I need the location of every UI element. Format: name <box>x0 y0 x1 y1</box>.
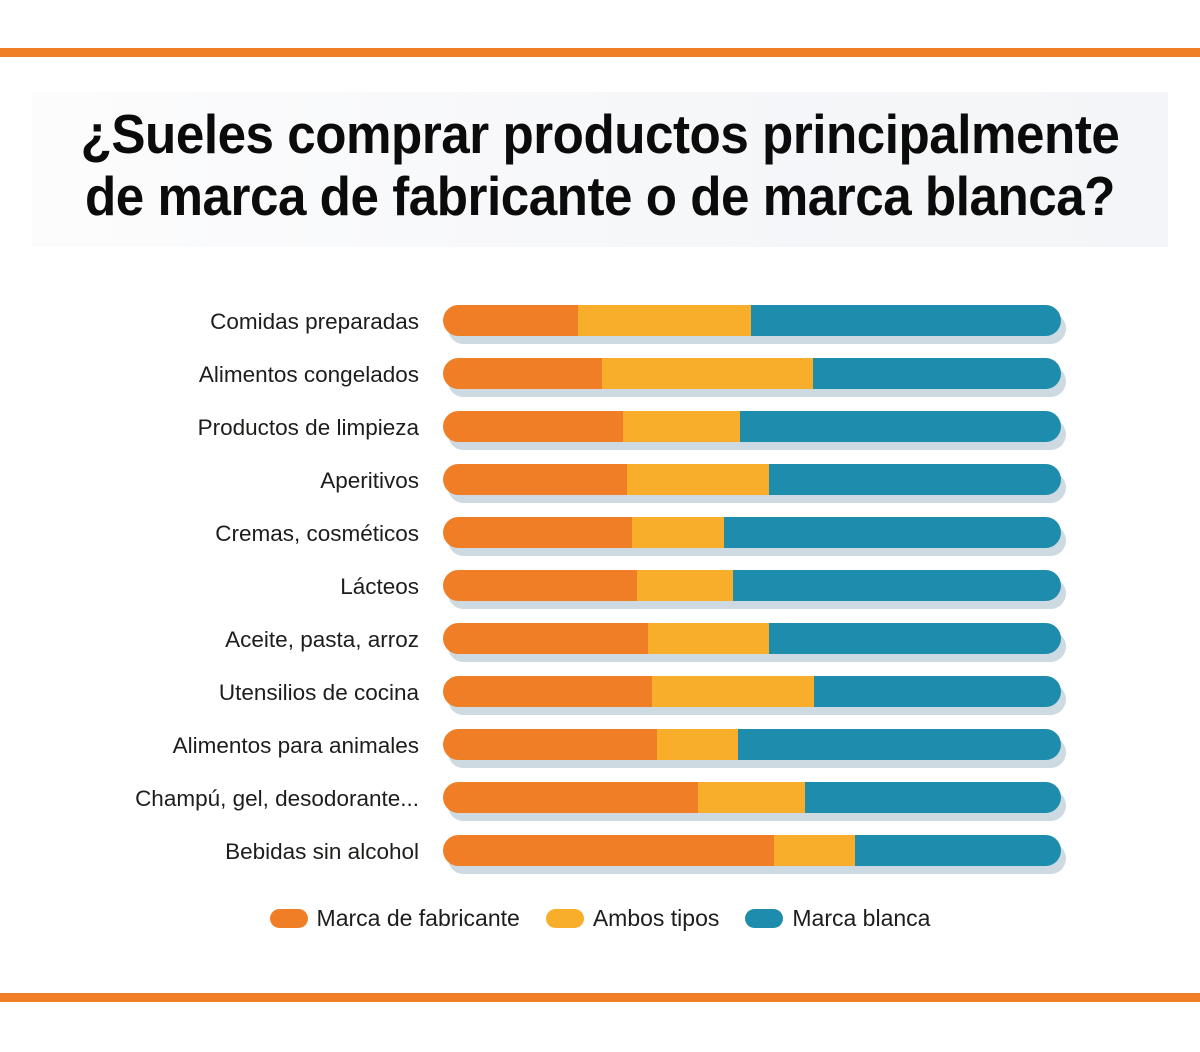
category-label: Cremas, cosméticos <box>0 521 443 547</box>
stacked-bar <box>443 517 1061 548</box>
category-label: Aceite, pasta, arroz <box>0 627 443 653</box>
bar-segment <box>751 305 1061 336</box>
legend-label: Marca de fabricante <box>317 905 520 932</box>
bar-track <box>443 570 1061 604</box>
bar-segment <box>443 464 627 495</box>
category-label: Utensilios de cocina <box>0 680 443 706</box>
chart-row: Comidas preparadas <box>0 295 1200 348</box>
legend-swatch-icon <box>745 909 783 928</box>
bar-track <box>443 782 1061 816</box>
category-label: Alimentos congelados <box>0 362 443 388</box>
legend-label: Ambos tipos <box>593 905 720 932</box>
stacked-bar-chart: Comidas preparadasAlimentos congeladosPr… <box>0 295 1200 878</box>
category-label: Aperitivos <box>0 468 443 494</box>
bar-segment <box>733 570 1061 601</box>
bar-segment <box>724 517 1061 548</box>
bar-track <box>443 305 1061 339</box>
bar-segment <box>443 305 578 336</box>
legend-swatch-icon <box>546 909 584 928</box>
chart-row: Utensilios de cocina <box>0 666 1200 719</box>
bar-track <box>443 464 1061 498</box>
stacked-bar <box>443 782 1061 813</box>
bar-segment <box>632 517 723 548</box>
bar-segment <box>813 358 1061 389</box>
bar-segment <box>443 411 623 442</box>
chart-row: Alimentos congelados <box>0 348 1200 401</box>
bar-track <box>443 835 1061 869</box>
stacked-bar <box>443 623 1061 654</box>
chart-row: Champú, gel, desodorante... <box>0 772 1200 825</box>
bar-segment <box>657 729 739 760</box>
legend-item[interactable]: Marca de fabricante <box>270 905 520 932</box>
stacked-bar <box>443 464 1061 495</box>
bar-segment <box>443 782 698 813</box>
bar-segment <box>774 835 855 866</box>
bar-track <box>443 676 1061 710</box>
bar-segment <box>627 464 769 495</box>
chart-row: Lácteos <box>0 560 1200 613</box>
bar-segment <box>698 782 806 813</box>
bar-segment <box>805 782 1061 813</box>
bar-segment <box>443 358 602 389</box>
bar-segment <box>814 676 1061 707</box>
stacked-bar <box>443 358 1061 389</box>
bar-segment <box>443 570 637 601</box>
bar-segment <box>578 305 751 336</box>
bar-segment <box>443 729 657 760</box>
bar-track <box>443 517 1061 551</box>
bar-segment <box>652 676 815 707</box>
bar-track <box>443 358 1061 392</box>
chart-row: Alimentos para animales <box>0 719 1200 772</box>
chart-row: Bebidas sin alcohol <box>0 825 1200 878</box>
chart-row: Aceite, pasta, arroz <box>0 613 1200 666</box>
stacked-bar <box>443 729 1061 760</box>
bar-segment <box>443 623 648 654</box>
top-accent-rule <box>0 48 1200 57</box>
bar-track <box>443 411 1061 445</box>
stacked-bar <box>443 305 1061 336</box>
bar-segment <box>769 464 1061 495</box>
category-label: Bebidas sin alcohol <box>0 839 443 865</box>
bar-segment <box>637 570 733 601</box>
bar-segment <box>602 358 813 389</box>
category-label: Alimentos para animales <box>0 733 443 759</box>
bar-segment <box>738 729 1061 760</box>
legend-item[interactable]: Marca blanca <box>745 905 930 932</box>
bar-segment <box>443 835 774 866</box>
chart-row: Cremas, cosméticos <box>0 507 1200 560</box>
page-title: ¿Sueles comprar productos principalmente… <box>72 103 1128 227</box>
stacked-bar <box>443 411 1061 442</box>
stacked-bar <box>443 835 1061 866</box>
legend-label: Marca blanca <box>792 905 930 932</box>
category-label: Comidas preparadas <box>0 309 443 335</box>
chart-legend: Marca de fabricanteAmbos tiposMarca blan… <box>0 905 1200 932</box>
legend-swatch-icon <box>270 909 308 928</box>
bar-segment <box>740 411 1061 442</box>
bottom-accent-rule <box>0 993 1200 1002</box>
bar-segment <box>769 623 1061 654</box>
chart-row: Productos de limpieza <box>0 401 1200 454</box>
legend-item[interactable]: Ambos tipos <box>546 905 720 932</box>
bar-segment <box>623 411 740 442</box>
category-label: Productos de limpieza <box>0 415 443 441</box>
bar-segment <box>648 623 770 654</box>
bar-segment <box>443 676 652 707</box>
bar-track <box>443 729 1061 763</box>
category-label: Champú, gel, desodorante... <box>0 786 443 812</box>
category-label: Lácteos <box>0 574 443 600</box>
stacked-bar <box>443 676 1061 707</box>
bar-track <box>443 623 1061 657</box>
stacked-bar <box>443 570 1061 601</box>
bar-segment <box>443 517 632 548</box>
chart-row: Aperitivos <box>0 454 1200 507</box>
bar-segment <box>855 835 1061 866</box>
